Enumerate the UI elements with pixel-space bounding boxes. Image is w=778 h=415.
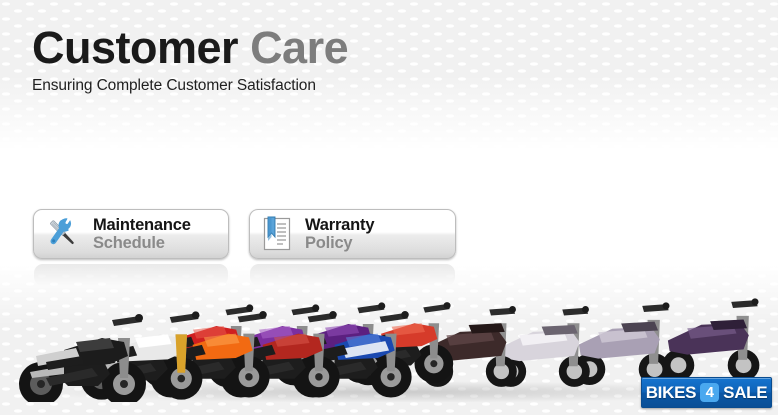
logo-word-sale: SALE — [723, 383, 767, 403]
bikes4sale-logo[interactable]: BIKES 4 SALE — [641, 377, 772, 408]
page-subtitle: Ensuring Complete Customer Satisfaction — [32, 77, 348, 95]
warranty-policy-button[interactable]: Warranty Policy — [249, 209, 456, 259]
page-header: Customer Care Ensuring Complete Customer… — [32, 24, 348, 95]
maintenance-schedule-button[interactable]: Maintenance Schedule — [33, 209, 229, 259]
page-title-secondary: Care — [250, 22, 348, 73]
page-title-primary: Customer — [32, 22, 238, 73]
wrench-screwdriver-icon — [44, 215, 82, 253]
maintenance-button-line1: Maintenance — [93, 217, 191, 234]
page-title: Customer Care — [32, 24, 348, 71]
vehicle-13 — [663, 298, 760, 381]
logo-word-bikes: BIKES — [646, 383, 696, 403]
warranty-button-labels: Warranty Policy — [305, 217, 374, 252]
logo-text: BIKES 4 SALE — [646, 383, 768, 403]
logo-badge-four: 4 — [700, 383, 719, 402]
maintenance-button-labels: Maintenance Schedule — [93, 217, 191, 252]
action-button-group: Maintenance Schedule — [33, 209, 456, 259]
document-bookmark-icon — [260, 215, 294, 253]
warranty-button-line1: Warranty — [305, 217, 374, 234]
warranty-button-line2: Policy — [305, 235, 374, 252]
customer-care-banner: Customer Care Ensuring Complete Customer… — [0, 0, 778, 415]
maintenance-button-line2: Schedule — [93, 235, 191, 252]
